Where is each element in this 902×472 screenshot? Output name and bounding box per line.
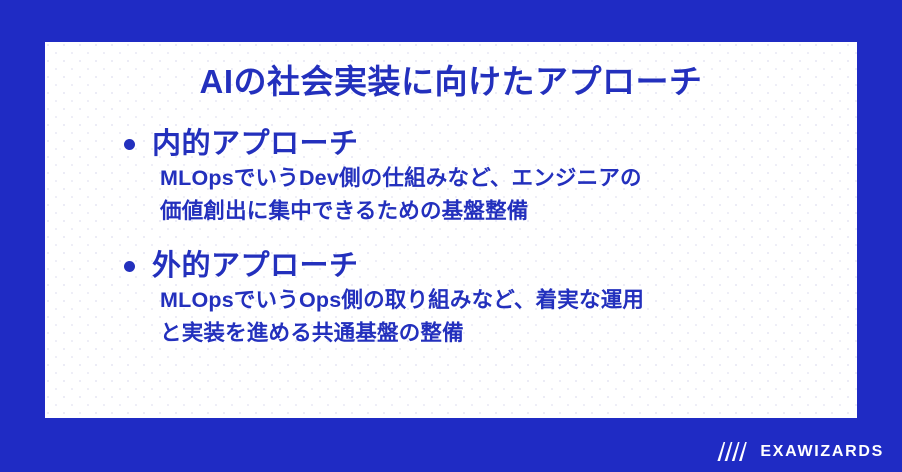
bullet-heading-row: 内的アプローチ <box>45 126 857 162</box>
bullet-heading-row: 外的アプローチ <box>45 248 857 284</box>
slide-root: AIの社会実装に向けたアプローチ 内的アプローチ MLOpsでいうDev側の仕組… <box>0 0 902 472</box>
bullet-description-line: 価値創出に集中できるための基盤整備 <box>160 195 839 228</box>
content-card: AIの社会実装に向けたアプローチ 内的アプローチ MLOpsでいうDev側の仕組… <box>45 42 857 418</box>
page-title: AIの社会実装に向けたアプローチ <box>45 64 857 100</box>
exawizards-logo-mark-icon <box>717 442 751 461</box>
bullet-heading-internal: 内的アプローチ <box>119 126 359 162</box>
bullet-description-line: と実装を進める共通基盤の整備 <box>160 317 839 350</box>
bullet-dot-icon <box>124 261 135 272</box>
bullet-description-line: MLOpsでいうOps側の取り組みなど、着実な運用 <box>160 284 839 317</box>
bullet-description-internal: MLOpsでいうDev側の仕組みなど、エンジニアの 価値創出に集中できるための基… <box>45 162 857 227</box>
card-inner: AIの社会実装に向けたアプローチ 内的アプローチ MLOpsでいうDev側の仕組… <box>45 42 857 418</box>
bullet-description-external: MLOpsでいうOps側の取り組みなど、着実な運用 と実装を進める共通基盤の整備 <box>45 284 857 349</box>
bullet-heading-external: 外的アプローチ <box>119 248 359 284</box>
bullet-list: 内的アプローチ MLOpsでいうDev側の仕組みなど、エンジニアの 価値創出に集… <box>45 126 857 369</box>
bullet-item-external: 外的アプローチ MLOpsでいうOps側の取り組みなど、着実な運用 と実装を進め… <box>45 248 857 350</box>
brand-name-text: EXAWIZARDS <box>760 444 884 460</box>
bullet-item-internal: 内的アプローチ MLOpsでいうDev側の仕組みなど、エンジニアの 価値創出に集… <box>45 126 857 228</box>
brand-logo: EXAWIZARDS <box>717 442 884 461</box>
bullet-description-line: MLOpsでいうDev側の仕組みなど、エンジニアの <box>160 162 839 195</box>
